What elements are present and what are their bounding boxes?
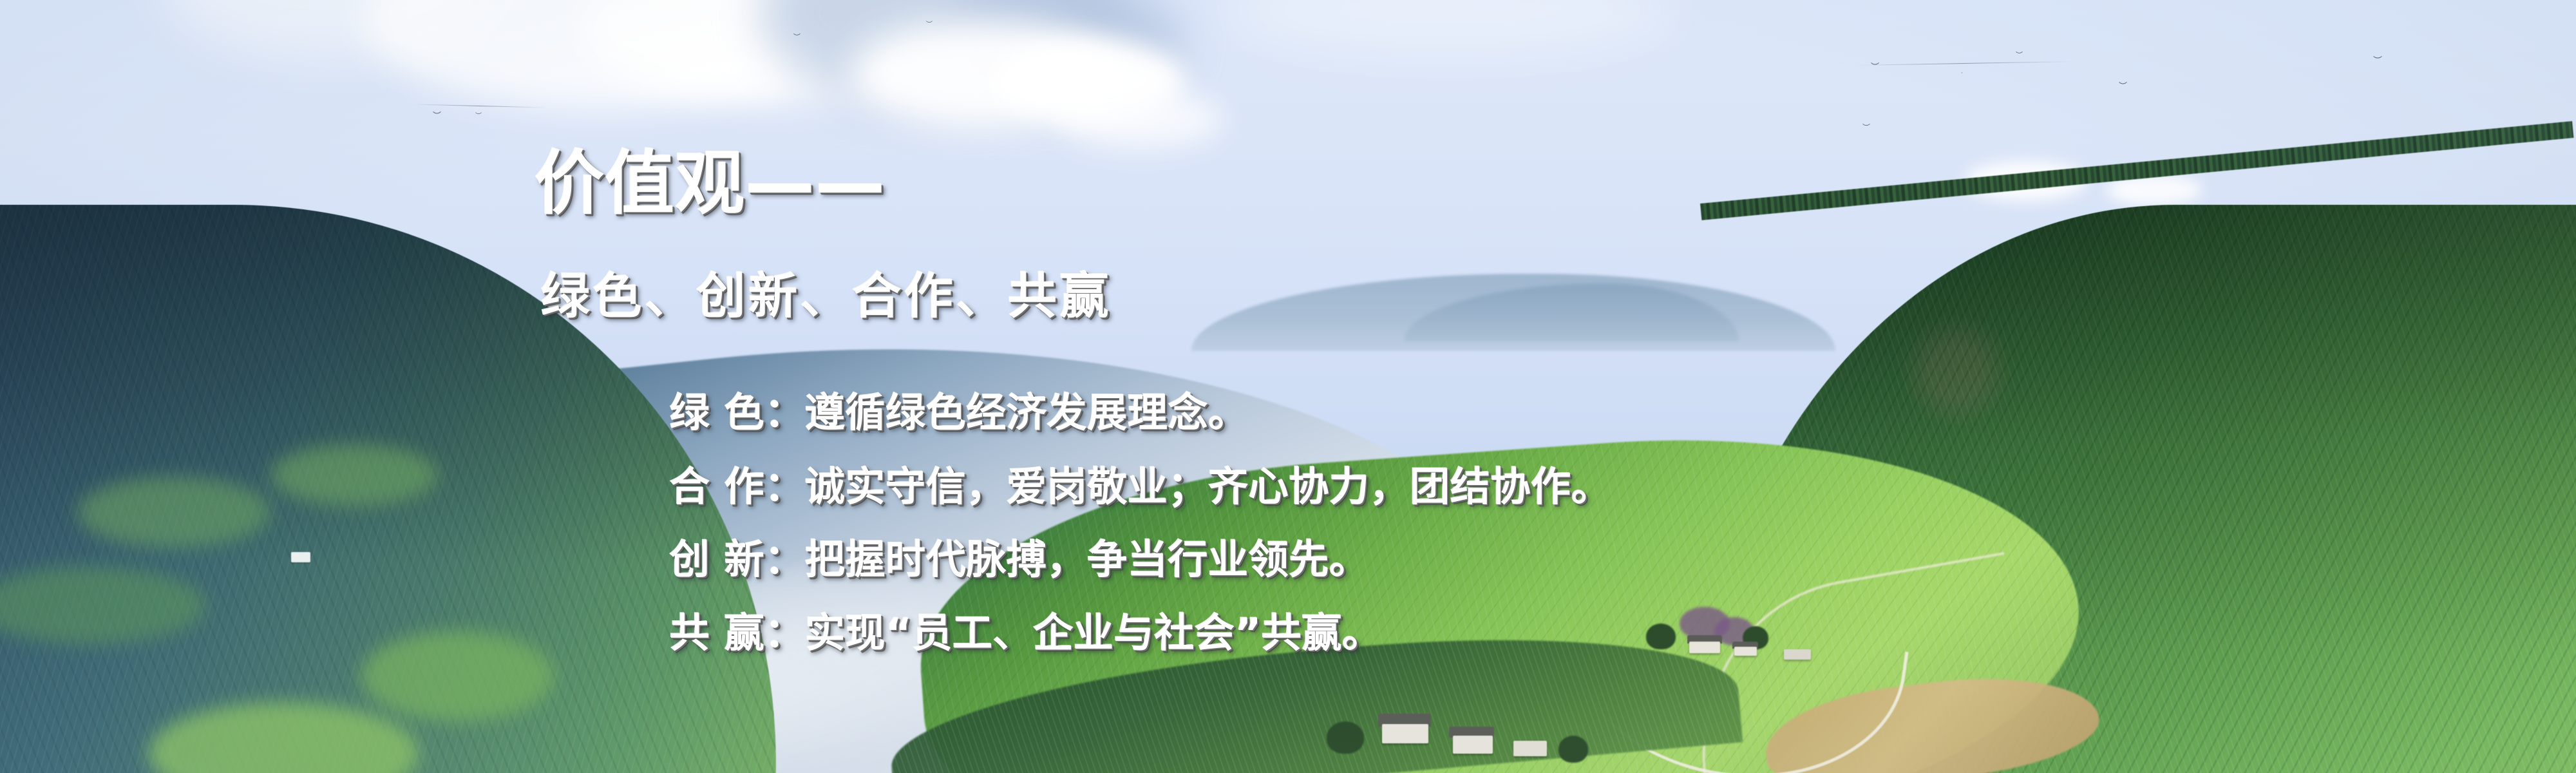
bird-icon: ︶ (2373, 57, 2382, 66)
bird-icon: · (1961, 71, 1963, 77)
building-shape (1784, 649, 1811, 660)
bird-icon: ︶ (793, 33, 800, 41)
bird-icon: ︶ (2016, 52, 2023, 59)
cloud-shape (1056, 90, 1224, 148)
bird-icon: ︶ (1862, 124, 1870, 131)
tree-shape (1327, 721, 1364, 754)
tree-shape (1558, 736, 1588, 763)
building-shape (1689, 642, 1720, 653)
building-shape (1734, 647, 1757, 656)
house-shape (291, 552, 310, 562)
meadow-patch (361, 631, 554, 721)
bird-icon: ︶ (433, 112, 441, 120)
building-shape (1513, 741, 1547, 756)
meadow-patch (270, 444, 438, 506)
bird-icon: ︶ (2119, 82, 2127, 91)
bird-icon: ︶ (475, 113, 482, 120)
building-shape (1382, 724, 1428, 743)
building-shape (1453, 736, 1493, 754)
tree-shape (1646, 624, 1676, 649)
bird-icon: ︶ (926, 22, 933, 28)
meadow-patch (77, 477, 270, 548)
bird-icon: ︶ (1871, 63, 1879, 72)
banner-stage: ︶ ︶ ︶ ︶ · ︶ ︶ ︶ ︶ ︶ (0, 0, 2576, 773)
